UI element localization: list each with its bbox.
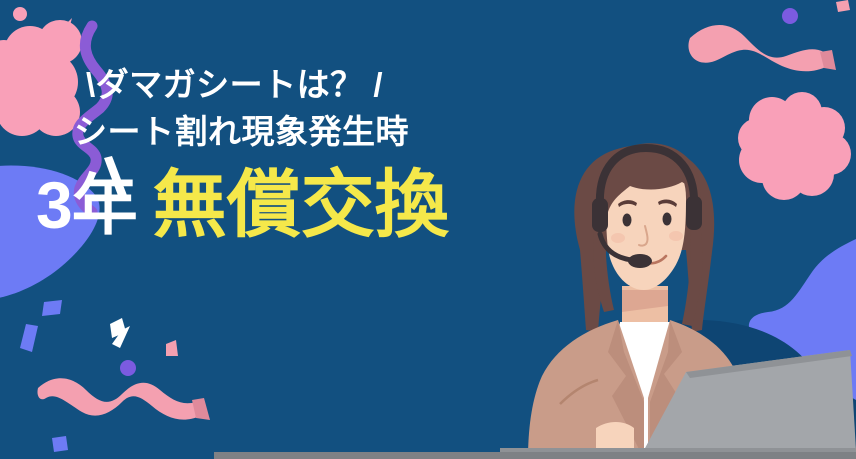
headset-band: [600, 148, 694, 208]
blue-confetti-2: [20, 324, 38, 352]
face: [606, 156, 686, 290]
periwinkle-blob-right: [749, 232, 856, 406]
blazer-lapel-right: [650, 320, 682, 459]
purple-dot-2: [782, 8, 798, 24]
headline-block: \ダマガシートは？ / シート割れ現象発生時 3年無償交換: [0, 62, 560, 242]
headset-earcup-right: [686, 196, 702, 230]
white-confetti-1: [110, 318, 126, 338]
headset-microphone: [628, 254, 652, 268]
white-confetti-2: [112, 326, 130, 348]
hair-back: [574, 145, 714, 332]
desk-surface: [214, 452, 856, 459]
pink-wave-ribbon-top-right: [688, 25, 828, 71]
cheek-right: [669, 231, 683, 241]
inner-top-white: [600, 322, 690, 459]
pink-confetti-right: [166, 340, 178, 356]
pink-cloud-burst-right: [738, 92, 851, 200]
headline-sub-line-2: シート割れ現象発生時: [0, 109, 560, 156]
purple-dot-1: [120, 360, 136, 376]
hair-side-right: [682, 196, 703, 326]
blazer-lapel-left: [608, 320, 644, 459]
blazer-left: [528, 320, 644, 459]
cheek-left: [611, 233, 625, 243]
pink-confetti-topright: [836, 0, 850, 12]
promo-banner: \ダマガシートは？ / シート割れ現象発生時 3年無償交換: [0, 0, 856, 459]
headset-earcup-left: [592, 198, 608, 232]
eye-left: [623, 214, 632, 227]
blue-confetti-1: [42, 300, 62, 316]
pink-ribbon-tail-bottom-left: [192, 398, 210, 420]
headline-main-line: 3年無償交換: [0, 168, 560, 242]
eyebrow-right: [658, 200, 677, 207]
laptop-screen-edge: [686, 350, 852, 378]
pink-dot-small-topleft: [13, 7, 27, 21]
blue-confetti-3: [52, 436, 68, 452]
laptop-base: [500, 448, 856, 459]
headline-main-emphasis: 無償交換: [153, 163, 449, 246]
hair-side-left: [593, 196, 614, 312]
laptop-screen: [644, 350, 856, 450]
headline-sub-line-1: \ダマガシートは？ /: [0, 62, 560, 109]
eyebrow-left: [618, 200, 637, 207]
hand-right: [664, 420, 702, 452]
nose: [639, 226, 648, 246]
mouth: [636, 256, 666, 263]
blazer-right: [648, 320, 748, 459]
pink-wave-ribbon-bottom-left: [37, 378, 200, 419]
neck: [622, 286, 668, 328]
neck-shadow: [622, 290, 668, 312]
eye-right: [663, 213, 672, 226]
blue-confetti-sticks: [20, 300, 68, 452]
hand-left: [596, 422, 634, 452]
navy-panel-dark: [560, 320, 856, 459]
pink-ribbon-tail-top-right: [820, 50, 836, 70]
headline-main-prefix: 3年: [36, 168, 137, 242]
blazer-seam-left: [560, 380, 598, 404]
hair-front: [600, 143, 700, 212]
headset-mic-boom: [600, 234, 632, 260]
